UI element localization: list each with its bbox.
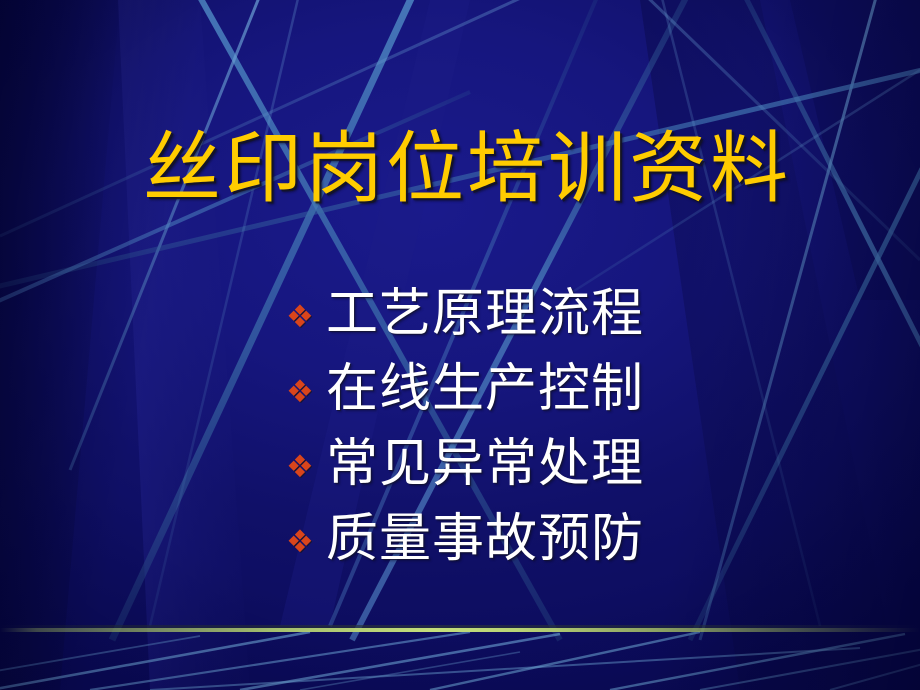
diamond-cluster-bullet-icon: ❖ xyxy=(286,288,326,333)
slide-bullet-list: ❖ 工艺原理流程 ❖ 在线生产控制 ❖ 常见异常处理 ❖ 质量事故预防 xyxy=(286,288,806,588)
presentation-slide: 丝印岗位培训资料 ❖ 工艺原理流程 ❖ 在线生产控制 ❖ 常见异常处理 ❖ 质量… xyxy=(0,0,920,690)
diamond-cluster-bullet-icon: ❖ xyxy=(286,513,326,558)
slide-title: 丝印岗位培训资料 xyxy=(0,130,920,210)
bullet-item-label: 常见异常处理 xyxy=(326,438,806,490)
diamond-cluster-bullet-icon: ❖ xyxy=(286,363,326,408)
bullet-item-label: 质量事故预防 xyxy=(326,513,806,565)
bullet-item-2: ❖ 在线生产控制 xyxy=(286,363,806,438)
bullet-item-3: ❖ 常见异常处理 xyxy=(286,438,806,513)
diamond-cluster-bullet-icon: ❖ xyxy=(286,438,326,483)
bullet-item-label: 在线生产控制 xyxy=(326,363,806,415)
footer-accent-rule xyxy=(0,628,920,632)
bullet-item-4: ❖ 质量事故预防 xyxy=(286,513,806,588)
bullet-item-1: ❖ 工艺原理流程 xyxy=(286,288,806,363)
bullet-item-label: 工艺原理流程 xyxy=(326,288,806,340)
